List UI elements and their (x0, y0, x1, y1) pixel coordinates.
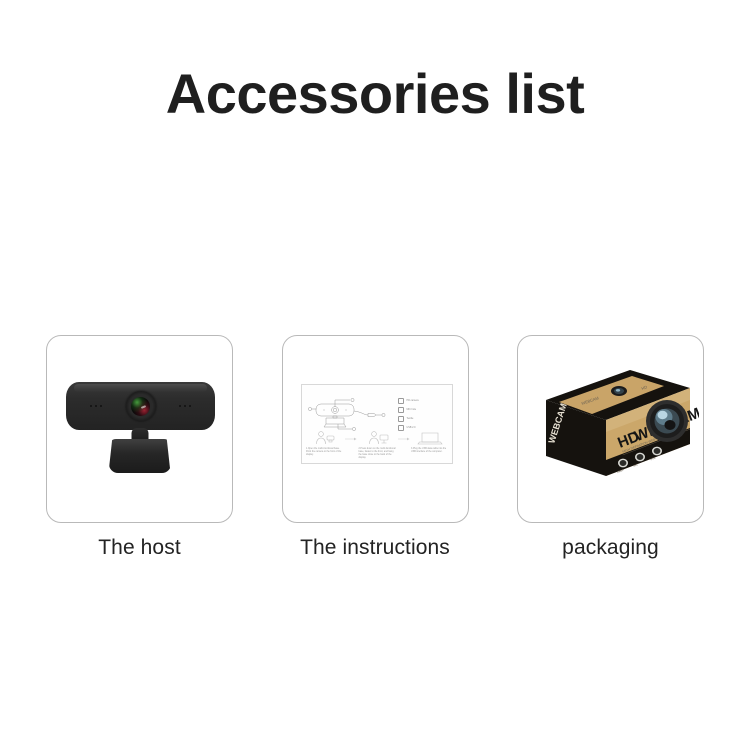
webcam-lens-glass-icon (131, 397, 150, 416)
instruction-step: 2.Press down on the multi-functional bas… (358, 430, 397, 459)
step-arrow-1-icon (344, 430, 358, 447)
retail-box-svg: WEBCAM HD WEBCAM HD WEBCAM HIGH DEFINITI… (524, 364, 699, 494)
box-front-lens-icon (646, 400, 688, 442)
accessories-card-row: HD camera MIC hole Textile USB 2.0 (46, 335, 704, 523)
legend-label: HD camera (407, 400, 419, 402)
retail-box-illustration: WEBCAM HD WEBCAM HD WEBCAM HIGH DEFINITI… (518, 336, 703, 522)
product-card-packaging[interactable]: WEBCAM HD WEBCAM HD WEBCAM HIGH DEFINITI… (517, 335, 704, 523)
step-2-illustration-icon (363, 430, 393, 447)
legend-bullet-icon (398, 398, 404, 404)
caption-packaging: packaging (517, 536, 704, 560)
legend-label: Textile (407, 418, 414, 420)
mic-holes-right-icon (179, 405, 191, 407)
product-card-host[interactable] (46, 335, 233, 523)
step-arrow-2-icon (397, 430, 411, 447)
caption-host: The host (46, 536, 233, 560)
legend-item: HD camera (398, 397, 446, 405)
caption-instructions: The instructions (282, 536, 469, 560)
legend-label: MIC hole (407, 409, 417, 411)
webcam-illustration (47, 336, 232, 522)
step-1-illustration-icon (310, 430, 340, 447)
instruction-sheet: HD camera MIC hole Textile USB 2.0 (301, 384, 453, 464)
instruction-steps: 1.Open the multi-functional base. Point … (306, 430, 450, 460)
legend-bullet-icon (398, 407, 404, 413)
webcam-body (66, 382, 215, 430)
instruction-sheet-top: HD camera MIC hole Textile USB 2.0 (302, 389, 452, 435)
webcam-lens-ring (126, 391, 156, 421)
legend-bullet-icon (398, 416, 404, 422)
box-top-lens-icon (611, 386, 627, 396)
instruction-step: 3.Plug the USB data cable into the USB i… (411, 430, 450, 454)
step-3-laptop-icon (415, 430, 445, 447)
step-caption: 1.Open the multi-functional base. Point … (306, 448, 344, 457)
step-caption: 3.Plug the USB data cable into the USB i… (411, 448, 449, 454)
mic-holes-left-icon (90, 405, 102, 407)
webcam-line-drawing (308, 395, 396, 435)
legend-item: Textile (398, 415, 446, 423)
instruction-step: 1.Open the multi-functional base. Point … (306, 430, 345, 457)
page-title: Accessories list (0, 66, 750, 122)
legend-label: USB 2.0 (407, 427, 416, 429)
webcam-clip-base (109, 439, 171, 473)
step-caption: 2.Press down on the multi-functional bas… (359, 448, 397, 459)
instruction-legend: HD camera MIC hole Textile USB 2.0 (398, 397, 446, 433)
accessories-caption-row: The host The instructions packaging (46, 536, 704, 560)
product-card-instructions[interactable]: HD camera MIC hole Textile USB 2.0 (282, 335, 469, 523)
legend-item: MIC hole (398, 406, 446, 414)
